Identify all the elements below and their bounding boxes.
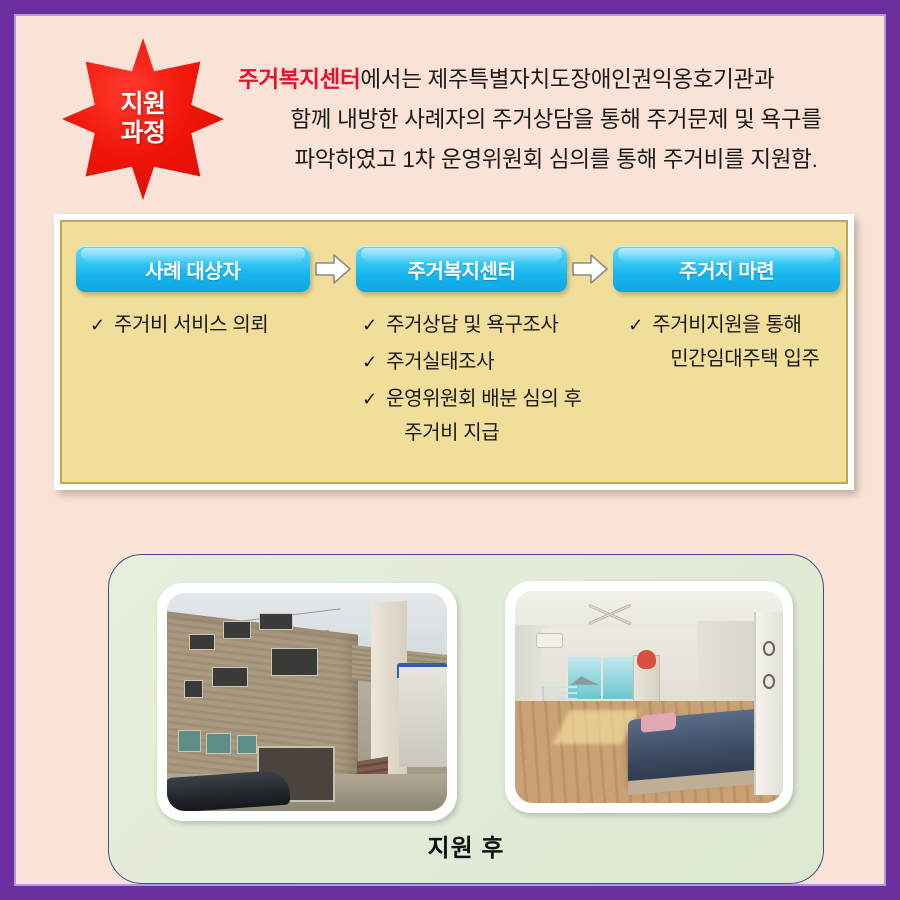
photo-pillow: [641, 712, 676, 733]
list-item-text: 주거실태조사: [386, 345, 622, 379]
header-highlight: 주거복지센터: [238, 67, 360, 92]
photo-window: [259, 613, 293, 630]
detail-column-1: ✓ 주거비 서비스 의뢰: [72, 308, 354, 476]
list-item: ✓ 운영위원회 배분 심의 후 주거비 지급: [362, 382, 622, 450]
list-item-text: 주거비지원을 통해: [652, 314, 801, 336]
photo-window: [189, 634, 214, 649]
header-line-1: 주거복지센터에서는 제주특별자치도장애인권익옹호기관과: [238, 60, 874, 100]
check-icon: ✓: [362, 382, 386, 416]
header-line-1-rest: 에서는 제주특별자치도장애인권익옹호기관과: [360, 67, 774, 92]
list-item-text: 주거상담 및 욕구조사: [386, 308, 622, 342]
process-detail-columns: ✓ 주거비 서비스 의뢰 ✓ 주거상담 및 욕구조사 ✓ 주거실태조사: [72, 308, 838, 476]
check-icon: ✓: [628, 308, 652, 342]
photo-neighbor-house: [399, 667, 447, 767]
header-line-2: 함께 내방한 사례자의 주거상담을 통해 주거문제 및 욕구를: [238, 100, 874, 140]
poster-inner-frame: 지원 과정 주거복지센터에서는 제주특별자치도장애인권익옹호기관과 함께 내방한…: [14, 14, 886, 886]
list-item-subtext: 주거비 지급: [386, 416, 622, 450]
photo-wall-hook: [763, 641, 775, 656]
poster-page: 지원 과정 주거복지센터에서는 제주특별자치도장애인권익옹호기관과 함께 내방한…: [0, 0, 900, 900]
header-description: 주거복지센터에서는 제주특별자치도장애인권익옹호기관과 함께 내방한 사례자의 …: [238, 60, 874, 180]
photo-window: [206, 733, 231, 755]
badge-line-2: 과정: [120, 119, 165, 149]
badge-label: 지원 과정: [62, 38, 224, 200]
right-arrow-icon-2: [567, 246, 613, 292]
photo-interior-room: [515, 591, 783, 803]
support-process-badge: 지원 과정: [62, 38, 224, 200]
flow-step-2-label: 주거복지센터: [407, 255, 515, 284]
flow-step-case-subject[interactable]: 사례 대상자: [76, 246, 310, 292]
check-icon: ✓: [362, 308, 386, 342]
list-item: ✓ 주거비 서비스 의뢰: [90, 308, 354, 342]
photo-panel: 지원 후: [108, 554, 824, 884]
right-arrow-icon-1: [310, 246, 356, 292]
badge-line-1: 지원: [120, 90, 165, 120]
flow-step-housing-welfare-center[interactable]: 주거복지센터: [356, 246, 568, 292]
photo-air-conditioner: [536, 633, 563, 648]
list-item-text-wrap: 운영위원회 배분 심의 후 주거비 지급: [386, 382, 622, 450]
list-item-text: 주거비 서비스 의뢰: [114, 308, 354, 342]
list-item-subtext: 민간임대주택 입주: [652, 342, 838, 376]
process-flow-body: 사례 대상자 주거복지센터: [60, 220, 848, 484]
photo-ceiling-light: [587, 606, 633, 621]
photo-window: [212, 667, 248, 687]
photo-exterior-building: [167, 593, 447, 811]
process-flow-steps: 사례 대상자 주거복지센터: [76, 244, 840, 294]
photo-caption: 지원 후: [109, 828, 823, 863]
photo-hill-view: [571, 675, 600, 684]
flow-step-housing-secured[interactable]: 주거지 마련: [613, 246, 840, 292]
photo-window: [223, 621, 251, 638]
header-line-3: 파악하였고 1차 운영위원회 심의를 통해 주거비를 지원함.: [238, 140, 874, 180]
check-icon: ✓: [362, 345, 386, 379]
photo-door: [754, 612, 783, 794]
list-item: ✓ 주거실태조사: [362, 345, 622, 379]
detail-column-3: ✓ 주거비지원을 통해 민간임대주택 입주: [622, 308, 838, 476]
photo-window: [178, 730, 200, 752]
photo-frame-interior: [505, 581, 793, 813]
photo-hanging-bag: [637, 650, 656, 669]
flow-step-1-label: 사례 대상자: [145, 255, 240, 284]
photo-window: [271, 648, 319, 676]
photo-window: [184, 680, 204, 697]
detail-column-2: ✓ 주거상담 및 욕구조사 ✓ 주거실태조사 ✓ 운영위원회 배분 심의 후 주…: [354, 308, 622, 476]
photo-wall-hook: [763, 674, 775, 689]
check-icon: ✓: [90, 308, 114, 342]
flow-step-3-label: 주거지 마련: [679, 255, 774, 284]
list-item-text: 운영위원회 배분 심의 후: [386, 388, 581, 410]
header-section: 지원 과정 주거복지센터에서는 제주특별자치도장애인권익옹호기관과 함께 내방한…: [16, 16, 884, 196]
list-item-text-wrap: 주거비지원을 통해 민간임대주택 입주: [652, 308, 838, 376]
photo-frame-exterior: [157, 583, 457, 821]
process-flow-panel: 사례 대상자 주거복지센터: [54, 214, 854, 490]
list-item: ✓ 주거비지원을 통해 민간임대주택 입주: [628, 308, 838, 376]
list-item: ✓ 주거상담 및 욕구조사: [362, 308, 622, 342]
photo-window: [237, 735, 257, 755]
